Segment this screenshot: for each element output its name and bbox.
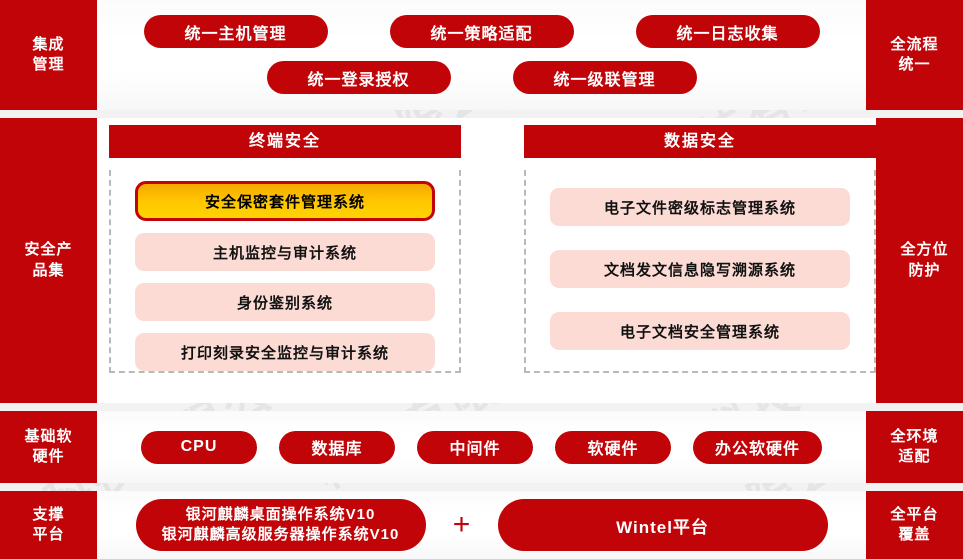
- platform-kylin-os[interactable]: 银河麒麟桌面操作系统V10 银河麒麟高级服务器操作系统V10: [136, 499, 426, 551]
- pill-unified-login-authorization[interactable]: 统一登录授权: [267, 61, 451, 94]
- row-base-software-hardware: 基础软硬件 CPU 数据库 中间件 软硬件 办公软硬件 全环境适配: [0, 411, 963, 483]
- row-label-integration-management: 集成管理: [0, 0, 97, 110]
- product-electronic-file-classification-label-management-system[interactable]: 电子文件密级标志管理系统: [550, 188, 850, 226]
- product-print-burn-security-monitoring-audit-system[interactable]: 打印刻录安全监控与审计系统: [135, 333, 435, 371]
- platform-content-area: 银河麒麟桌面操作系统V10 银河麒麟高级服务器操作系统V10 + Wintel平…: [97, 491, 866, 559]
- row-label-support-platform: 支撑平台: [0, 491, 97, 559]
- row-integration-management: 集成管理 统一主机管理 统一策略适配 统一日志收集 统一登录授权 统一级联管理 …: [0, 0, 963, 110]
- column-endpoint-security: 终端安全 安全保密套件管理系统 主机监控与审计系统 身份鉴别系统 打印刻录安全监…: [109, 118, 461, 403]
- pill-unified-log-collection[interactable]: 统一日志收集: [636, 15, 820, 48]
- pill-office-software-hardware[interactable]: 办公软硬件: [693, 431, 822, 464]
- platform-wintel[interactable]: Wintel平台: [498, 499, 828, 551]
- product-security-confidentiality-suite-management-system[interactable]: 安全保密套件管理系统: [135, 181, 435, 221]
- product-identity-authentication-system[interactable]: 身份鉴别系统: [135, 283, 435, 321]
- pill-unified-host-management[interactable]: 统一主机管理: [144, 15, 328, 48]
- column-body-data-security: 电子文件密级标志管理系统 文档发文信息隐写溯源系统 电子文档安全管理系统: [524, 170, 876, 373]
- row-benefit-support-platform: 全平台覆盖: [866, 491, 963, 559]
- row-label-base-software-hardware: 基础软硬件: [0, 411, 97, 483]
- product-electronic-document-security-management-system[interactable]: 电子文档安全管理系统: [550, 312, 850, 350]
- security-content-area: 终端安全 安全保密套件管理系统 主机监控与审计系统 身份鉴别系统 打印刻录安全监…: [97, 118, 876, 403]
- platform-kylin-desktop-label: 银河麒麟桌面操作系统V10: [186, 505, 376, 525]
- row-benefit-security-product-suite: 全方位防护: [876, 118, 963, 403]
- row-security-product-suite: 安全产品集 终端安全 安全保密套件管理系统 主机监控与审计系统 身份鉴别系统 打…: [0, 118, 963, 403]
- platform-kylin-server-label: 银河麒麟高级服务器操作系统V10: [162, 525, 400, 545]
- integration-content-area: 统一主机管理 统一策略适配 统一日志收集 统一登录授权 统一级联管理: [97, 0, 866, 110]
- row-support-platform: 支撑平台 银河麒麟桌面操作系统V10 银河麒麟高级服务器操作系统V10 + Wi…: [0, 491, 963, 559]
- architecture-board: 集成管理 统一主机管理 统一策略适配 统一日志收集 统一登录授权 统一级联管理 …: [0, 0, 963, 559]
- base-content-area: CPU 数据库 中间件 软硬件 办公软硬件: [97, 411, 866, 483]
- pill-middleware[interactable]: 中间件: [417, 431, 533, 464]
- integration-pill-line-1: 统一主机管理 统一策略适配 统一日志收集: [97, 15, 866, 48]
- integration-pill-line-2: 统一登录授权 统一级联管理: [97, 61, 866, 94]
- pill-unified-cascade-management[interactable]: 统一级联管理: [513, 61, 697, 94]
- row-benefit-base-software-hardware: 全环境适配: [866, 411, 963, 483]
- pill-database[interactable]: 数据库: [279, 431, 395, 464]
- product-document-dispatch-steganography-tracing-system[interactable]: 文档发文信息隐写溯源系统: [550, 250, 850, 288]
- row-benefit-integration-management: 全流程统一: [866, 0, 963, 110]
- row-label-security-product-suite: 安全产品集: [0, 118, 97, 403]
- pill-cpu[interactable]: CPU: [141, 431, 257, 464]
- column-body-endpoint-security: 安全保密套件管理系统 主机监控与审计系统 身份鉴别系统 打印刻录安全监控与审计系…: [109, 170, 461, 373]
- plus-icon: +: [426, 510, 498, 540]
- pill-unified-policy-adaptation[interactable]: 统一策略适配: [390, 15, 574, 48]
- column-header-data-security: 数据安全: [524, 125, 876, 158]
- column-header-endpoint-security: 终端安全: [109, 125, 461, 158]
- pill-software-hardware[interactable]: 软硬件: [555, 431, 671, 464]
- product-host-monitoring-audit-system[interactable]: 主机监控与审计系统: [135, 233, 435, 271]
- column-data-security: 数据安全 电子文件密级标志管理系统 文档发文信息隐写溯源系统 电子文档安全管理系…: [524, 118, 876, 403]
